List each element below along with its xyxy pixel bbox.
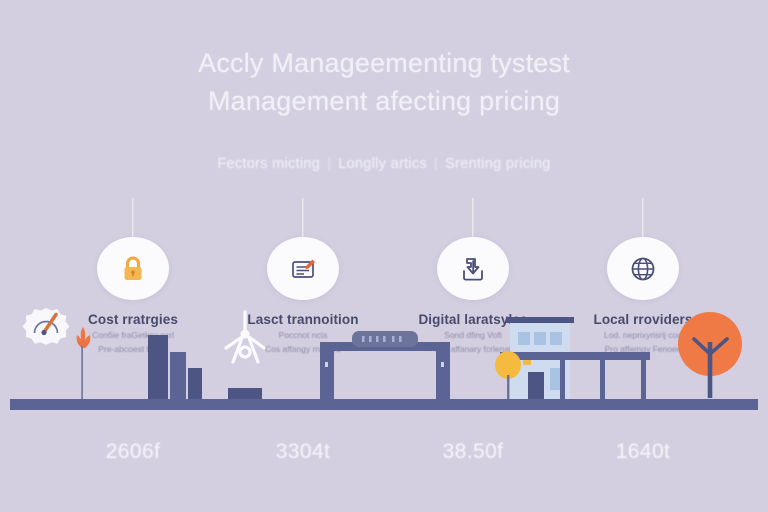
connector-line — [302, 198, 303, 238]
subtitle-part-2: Longlly artics — [338, 156, 427, 172]
lock-icon — [116, 252, 150, 286]
gate-arch-with-sign — [320, 331, 450, 399]
stat-value-transition: 3304t — [228, 440, 378, 464]
subtitle-part-3: Srenting pricing — [445, 156, 551, 172]
subtitle-part-1: Fectors micting — [217, 156, 320, 172]
turbine-base — [228, 388, 262, 399]
gauge-dial-icon — [23, 308, 70, 345]
subtitle-separator-2: | — [427, 156, 445, 172]
stat-row: 2606f 3304t 38.50f 1640t — [58, 440, 718, 464]
stat-value-digital: 38.50f — [398, 440, 548, 464]
stat-value-cost: 2606f — [58, 440, 208, 464]
orange-shrub — [77, 327, 91, 399]
title-line-1: Accly Manageementing tystest — [0, 44, 768, 82]
orange-tree — [678, 312, 742, 398]
bar-buildings — [148, 335, 202, 399]
connector-line — [642, 198, 643, 238]
stat-value-local: 1640t — [568, 440, 718, 464]
cityscape-illustration — [0, 290, 768, 410]
scene-svg — [0, 290, 768, 410]
download-inbox-icon — [456, 252, 490, 286]
infographic-canvas: Accly Manageementing tystest Management … — [0, 0, 768, 512]
connector-line — [132, 198, 133, 238]
subtitle-separator-1: | — [320, 156, 338, 172]
connector-line — [472, 198, 473, 238]
title-line-2: Management afecting pricing — [0, 82, 768, 120]
note-pen-icon — [286, 252, 320, 286]
page-title: Accly Manageementing tystest Management … — [0, 44, 768, 120]
globe-icon — [626, 252, 660, 286]
ground-line — [10, 399, 758, 410]
white-turbine — [226, 312, 264, 362]
subtitle: Fectors micting|Longlly artics|Srenting … — [0, 156, 768, 172]
